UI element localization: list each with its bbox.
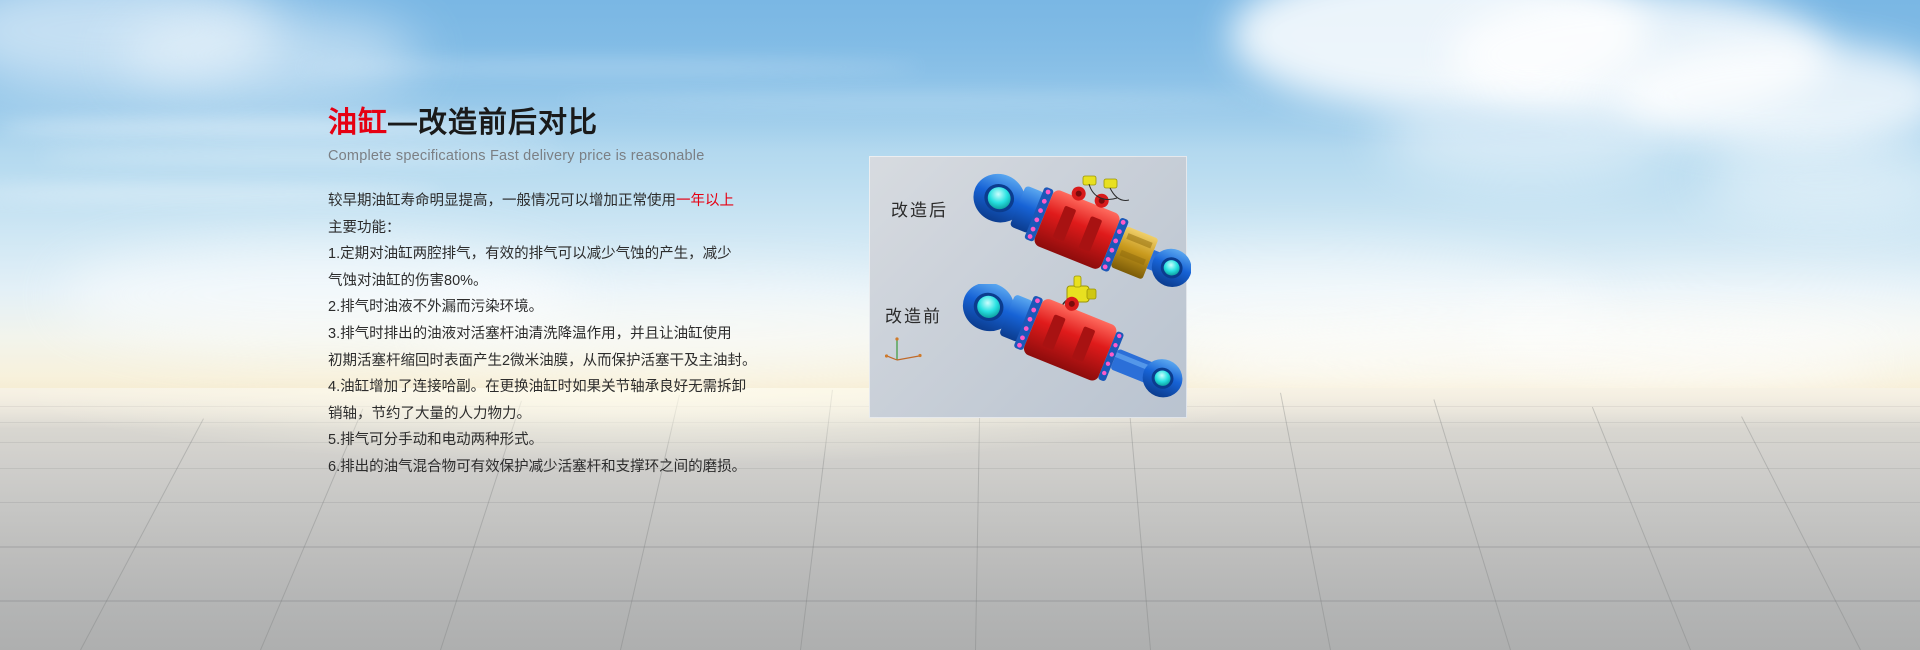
- page-title-highlight: 油缸: [328, 107, 388, 139]
- ground-gridline: [0, 468, 1920, 469]
- page-subtitle: Complete specifications Fast delivery pr…: [328, 148, 848, 164]
- body-line: 3.排气时排出的油液对活塞杆油清洗降温作用，并且让油缸使用: [328, 321, 848, 348]
- ground-gridline: [1741, 416, 1861, 650]
- cylinder-assembly-after: [965, 172, 1191, 288]
- ground-gridline: [1433, 399, 1511, 650]
- ground-gridline: [0, 442, 1920, 443]
- cloud: [120, 10, 420, 100]
- label-before-modification: 改造前: [885, 302, 942, 327]
- body-line: 2.排气时油液不外漏而污染环境。: [328, 294, 848, 321]
- body-line-highlight: 一年以上: [676, 193, 734, 209]
- banner-stage: 油缸—改造前后对比 Complete specifications Fast d…: [0, 0, 1920, 650]
- plaza-ground: [0, 388, 1920, 650]
- label-after-modification: 改造后: [891, 196, 948, 221]
- ground-gridline: [1592, 407, 1691, 650]
- text-block: 油缸—改造前后对比 Complete specifications Fast d…: [328, 104, 848, 481]
- cylinder-assembly-before: [953, 284, 1187, 402]
- ground-gridline: [0, 502, 1920, 503]
- body-line: 主要功能：: [328, 215, 848, 242]
- body-line: 初期活塞杆缩回时表面产生2微米油膜，从而保护活塞干及主油封。: [328, 348, 848, 375]
- body-line: 1.定期对油缸两腔排气，有效的排气可以减少气蚀的产生，减少: [328, 241, 848, 268]
- page-title: 油缸—改造前后对比: [328, 104, 848, 142]
- body-line-text: 较早期油缸寿命明显提高，一般情况可以增加正常使用: [328, 193, 676, 209]
- cloud: [1380, 90, 1680, 180]
- ground-gridline: [0, 422, 1920, 423]
- body-line: 销轴，节约了大量的人力物力。: [328, 401, 848, 428]
- body-line: 较早期油缸寿命明显提高，一般情况可以增加正常使用一年以上: [328, 188, 848, 215]
- ground-gridline: [0, 546, 1920, 548]
- cloud-streak: [300, 62, 920, 72]
- axis-triad-icon: [885, 334, 925, 364]
- cloud: [1700, 140, 1920, 220]
- ground-gridline: [1127, 389, 1151, 650]
- ground-gridline: [1280, 393, 1331, 650]
- body-line: 5.排气可分手动和电动两种形式。: [328, 427, 848, 454]
- body-line: 6.排出的油气混合物可有效保护减少活塞杆和支撑环之间的磨损。: [328, 454, 848, 481]
- body-text: 较早期油缸寿命明显提高，一般情况可以增加正常使用一年以上 主要功能： 1.定期对…: [328, 188, 848, 481]
- ground-gridline: [80, 418, 204, 650]
- body-line: 气蚀对油缸的伤害80%。: [328, 268, 848, 295]
- comparison-image-panel: 改造后 改造前: [869, 156, 1187, 418]
- ground-gridline: [0, 600, 1920, 602]
- body-line: 4.油缸增加了连接哈副。在更换油缸时如果关节轴承良好无需拆卸: [328, 374, 848, 401]
- page-title-rest: —改造前后对比: [388, 107, 598, 139]
